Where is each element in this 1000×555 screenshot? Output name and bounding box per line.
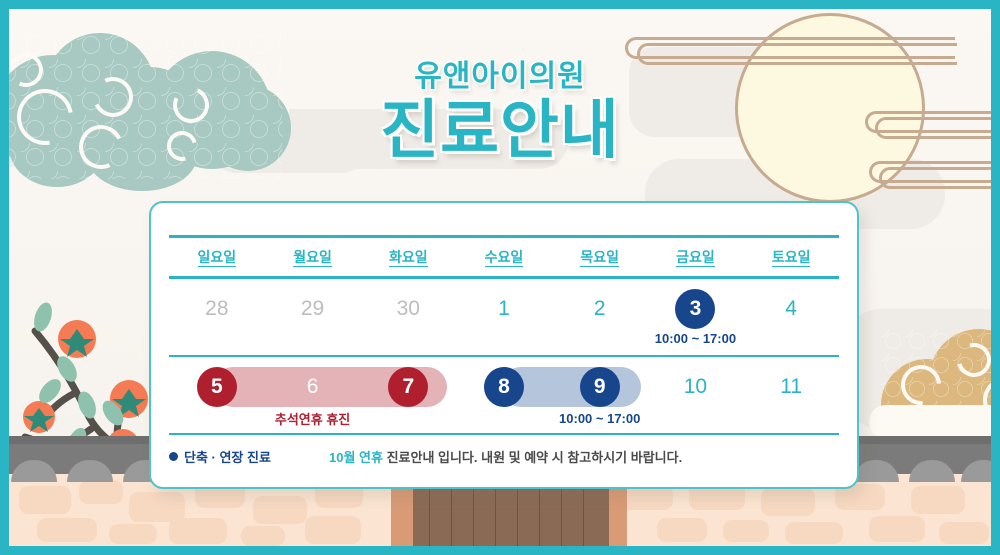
page-title: 진료안내 — [9, 97, 991, 165]
footer-message-highlight: 10월 연휴 — [329, 450, 383, 465]
calendar-day-cell-highlighted[interactable]: 3 10:00 ~ 17:00 — [648, 279, 744, 355]
title-block: 유앤아이의원 진료안내 — [9, 51, 991, 165]
day-number: 4 — [771, 289, 811, 329]
cloud-tail-decoration — [869, 405, 991, 439]
calendar-header-row: 일요일 월요일 화요일 수요일 목요일 금요일 토요일 — [169, 235, 839, 279]
day-header-sat: 토요일 — [743, 238, 839, 276]
calendar-day-cell[interactable]: 30 — [360, 279, 456, 355]
legend: 단축 · 연장 진료 — [169, 447, 329, 466]
day-number: 30 — [388, 289, 428, 329]
day-number: 11 — [771, 367, 811, 407]
calendar-day-cell-highlighted[interactable]: 8 — [456, 357, 552, 433]
day-header-mon: 월요일 — [265, 238, 361, 276]
day-number: 10 — [675, 367, 715, 407]
calendar-day-cell[interactable]: 11 — [743, 357, 839, 433]
day-number: 9 — [580, 367, 620, 407]
day-header-thu: 목요일 — [552, 238, 648, 276]
calendar-day-cell-holiday[interactable]: 7 — [360, 357, 456, 433]
calendar-week-row: 5 6 추석연휴 휴진 7 8 9 10:00 ~ 17:00 10 — [169, 357, 839, 435]
day-number: 7 — [388, 367, 428, 407]
calendar-day-cell-highlighted[interactable]: 9 10:00 ~ 17:00 — [552, 357, 648, 433]
day-header-wed: 수요일 — [456, 238, 552, 276]
legend-dot-icon — [169, 452, 178, 461]
day-hours-note: 10:00 ~ 17:00 — [655, 331, 736, 346]
calendar-day-cell-holiday[interactable]: 5 — [169, 357, 265, 433]
calendar-day-cell[interactable]: 1 — [456, 279, 552, 355]
calendar-week-row: 28 29 30 1 2 3 10:00 ~ 17:00 — [169, 279, 839, 357]
line-decoration — [879, 167, 991, 189]
calendar-day-cell[interactable]: 2 — [552, 279, 648, 355]
day-number: 3 — [675, 289, 715, 329]
day-number: 1 — [484, 289, 524, 329]
card-footer: 단축 · 연장 진료 10월 연휴 진료안내 입니다. 내원 및 예약 시 참고… — [169, 435, 839, 466]
calendar-day-cell-holiday[interactable]: 6 추석연휴 휴진 — [265, 357, 361, 433]
calendar-day-cell[interactable]: 4 — [743, 279, 839, 355]
footer-message-rest: 진료안내 입니다. 내원 및 예약 시 참고하시기 바랍니다. — [383, 450, 682, 465]
calendar-day-cell[interactable]: 10 — [648, 357, 744, 433]
day-header-tue: 화요일 — [360, 238, 456, 276]
day-number: 28 — [197, 289, 237, 329]
day-number: 8 — [484, 367, 524, 407]
day-number: 2 — [580, 289, 620, 329]
day-number: 6 — [293, 367, 333, 407]
footer-message: 10월 연휴 진료안내 입니다. 내원 및 예약 시 참고하시기 바랍니다. — [329, 447, 682, 466]
holiday-note: 추석연휴 휴진 — [275, 409, 350, 428]
day-header-sun: 일요일 — [169, 238, 265, 276]
day-header-fri: 금요일 — [648, 238, 744, 276]
day-number: 29 — [293, 289, 333, 329]
calendar-card: 일요일 월요일 화요일 수요일 목요일 금요일 토요일 28 29 30 — [149, 201, 859, 489]
clinic-name: 유앤아이의원 — [9, 51, 991, 95]
day-hours-note: 10:00 ~ 17:00 — [552, 411, 648, 426]
poster-canvas: 유앤아이의원 진료안내 일요일 월요일 화요일 수요일 목요일 금요일 토요일 … — [0, 0, 1000, 555]
calendar-day-cell[interactable]: 29 — [265, 279, 361, 355]
poster-background: 유앤아이의원 진료안내 일요일 월요일 화요일 수요일 목요일 금요일 토요일 … — [9, 9, 991, 546]
calendar-day-cell[interactable]: 28 — [169, 279, 265, 355]
day-number: 5 — [197, 367, 237, 407]
legend-label: 단축 · 연장 진료 — [184, 447, 271, 466]
